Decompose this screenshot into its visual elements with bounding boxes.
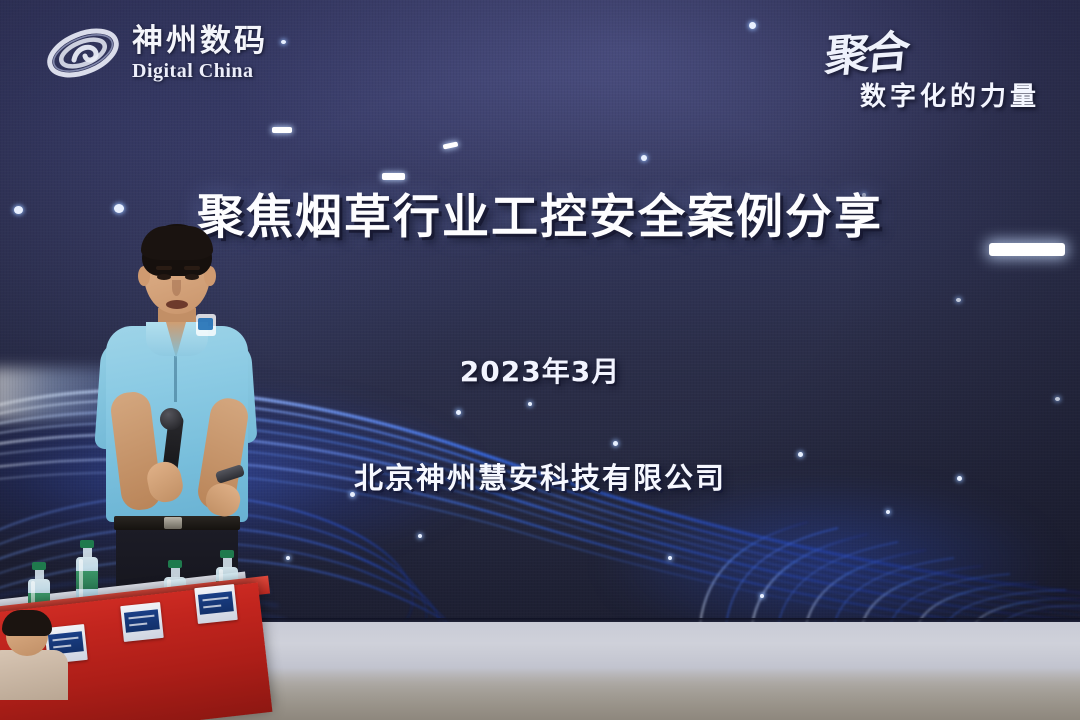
bottle-cap: [168, 560, 182, 568]
speaker-eye-right: [185, 274, 199, 280]
speaker-shirt-placket: [174, 350, 177, 402]
name-card: [194, 584, 238, 624]
seated-person-body: [0, 650, 68, 700]
speaker-badge-logo-icon: [198, 318, 213, 330]
event-calligraphy: 聚合: [823, 15, 909, 84]
bottle-cap: [32, 562, 46, 570]
name-card-band: [198, 591, 234, 614]
speaker-eyebrow-left: [156, 266, 172, 270]
brand-name-cn: 神州数码: [132, 26, 268, 57]
bottle-cap: [220, 550, 234, 558]
event-tagline: 数字化的力量: [860, 76, 1040, 113]
bottle-highlight: [79, 559, 83, 599]
conference-stage-photo: 神州数码 Digital China 聚合 数字化的力量 聚焦烟草行业工控安全案…: [0, 0, 1080, 720]
name-card: [120, 602, 164, 642]
brand-text: 神州数码 Digital China: [132, 26, 268, 81]
spiral-swirl-icon: [44, 20, 122, 86]
water-bottle: [76, 540, 98, 601]
speaker-eyebrow-right: [184, 266, 200, 270]
speaker-hair-top: [141, 226, 213, 260]
seated-audience-member: [0, 616, 74, 690]
bottle-neck: [171, 568, 180, 577]
bottle-neck: [223, 558, 232, 567]
bottle-neck: [83, 548, 92, 557]
speaker-nose: [172, 280, 181, 296]
speaker-mouth: [166, 300, 188, 309]
speaker-belt-buckle: [164, 517, 182, 529]
speaker-eye-left: [157, 274, 171, 280]
name-card-band: [124, 609, 160, 632]
bottle-cap: [80, 540, 94, 548]
event-logo: 聚合 数字化的力量: [808, 18, 1058, 118]
bottle-neck: [35, 570, 44, 579]
brand-name-en: Digital China: [132, 61, 268, 81]
seated-person-hair: [2, 610, 52, 636]
brand-logo: 神州数码 Digital China: [44, 20, 268, 86]
